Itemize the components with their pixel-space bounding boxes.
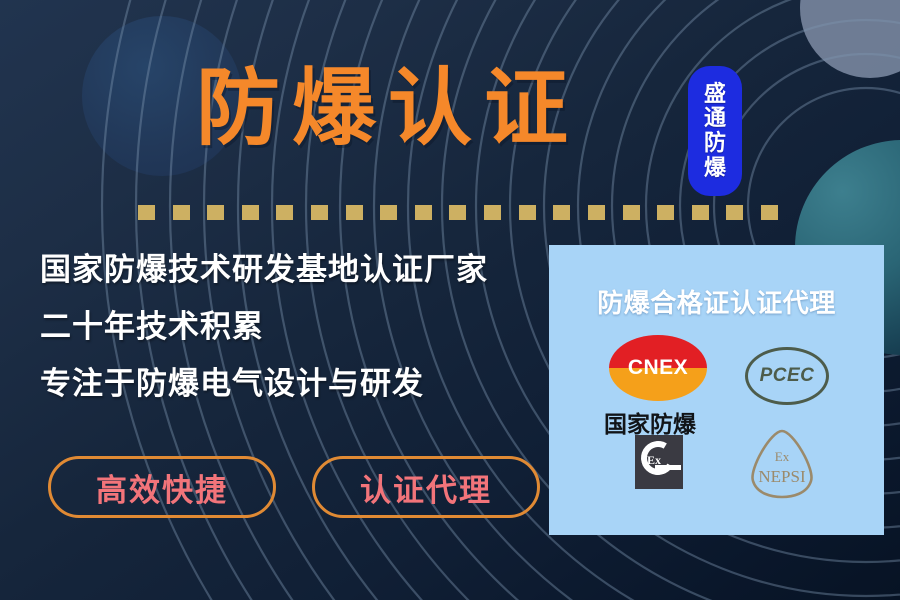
pcec-logo-text: PCEC <box>760 365 815 387</box>
ex-square-logo-text: Ex <box>647 453 661 468</box>
pcec-logo: PCEC <box>745 347 829 405</box>
ex-square-logo: Ex <box>635 435 683 489</box>
divider-dash <box>692 205 709 220</box>
certification-logo-group: CNEX 国家防爆 PCEC Ex Ex NEPSI <box>549 329 884 529</box>
pill-button-group: 高效快捷 认证代理 <box>48 456 540 518</box>
divider-dash <box>276 205 293 220</box>
feature-list: 国家防爆技术研发基地认证厂家 二十年技术积累 专注于防爆电气设计与研发 <box>40 255 540 426</box>
divider-dash <box>519 205 536 220</box>
feature-line-1: 国家防爆技术研发基地认证厂家 <box>40 255 540 286</box>
divider-dash <box>173 205 190 220</box>
certification-panel: 防爆合格证认证代理 CNEX 国家防爆 PCEC Ex <box>549 245 884 535</box>
divider-dash <box>138 205 155 220</box>
certification-panel-title: 防爆合格证认证代理 <box>549 283 884 320</box>
brand-badge-char-4: 爆 <box>704 156 726 181</box>
pill-button-agency[interactable]: 认证代理 <box>312 456 540 518</box>
cnex-ellipse-icon: CNEX <box>609 335 707 401</box>
cnex-logo-caption: 国家防爆 <box>601 405 699 439</box>
divider-dash <box>207 205 224 220</box>
brand-badge: 盛 通 防 爆 <box>688 66 742 196</box>
divider-dash <box>623 205 640 220</box>
nepsi-logo: Ex NEPSI <box>741 425 823 503</box>
divider-dash <box>484 205 501 220</box>
brand-badge-char-1: 盛 <box>704 82 726 107</box>
pill-button-agency-label: 认证代理 <box>360 465 492 510</box>
cnex-logo-text: CNEX <box>628 356 688 380</box>
divider-dash <box>449 205 466 220</box>
decorative-circle-top-right <box>800 0 900 78</box>
pill-button-efficiency[interactable]: 高效快捷 <box>48 456 276 518</box>
promo-poster: 防爆认证 盛 通 防 爆 国家防爆技术研发基地认证厂家 二十年技术积累 专注于防… <box>0 0 900 600</box>
divider-dash <box>346 205 363 220</box>
divider-dash <box>311 205 328 220</box>
cnex-logo: CNEX 国家防爆 <box>609 335 707 439</box>
divider-dash <box>415 205 432 220</box>
divider-dash <box>553 205 570 220</box>
nepsi-logo-text-bottom: NEPSI <box>758 467 806 486</box>
brand-badge-char-2: 通 <box>704 106 726 131</box>
feature-line-2: 二十年技术积累 <box>40 312 540 343</box>
nepsi-logo-text-top: Ex <box>775 449 790 464</box>
divider-dash <box>657 205 674 220</box>
divider-dash <box>242 205 259 220</box>
divider-dash <box>588 205 605 220</box>
pill-button-efficiency-label: 高效快捷 <box>96 465 228 510</box>
divider-dash <box>726 205 743 220</box>
page-title: 防爆认证 <box>196 66 580 150</box>
feature-line-3: 专注于防爆电气设计与研发 <box>40 369 540 400</box>
brand-badge-char-3: 防 <box>704 131 726 156</box>
nepsi-triangle-icon: Ex NEPSI <box>741 425 823 503</box>
divider-dash <box>761 205 778 220</box>
dashed-divider <box>138 205 778 220</box>
divider-dash <box>380 205 397 220</box>
